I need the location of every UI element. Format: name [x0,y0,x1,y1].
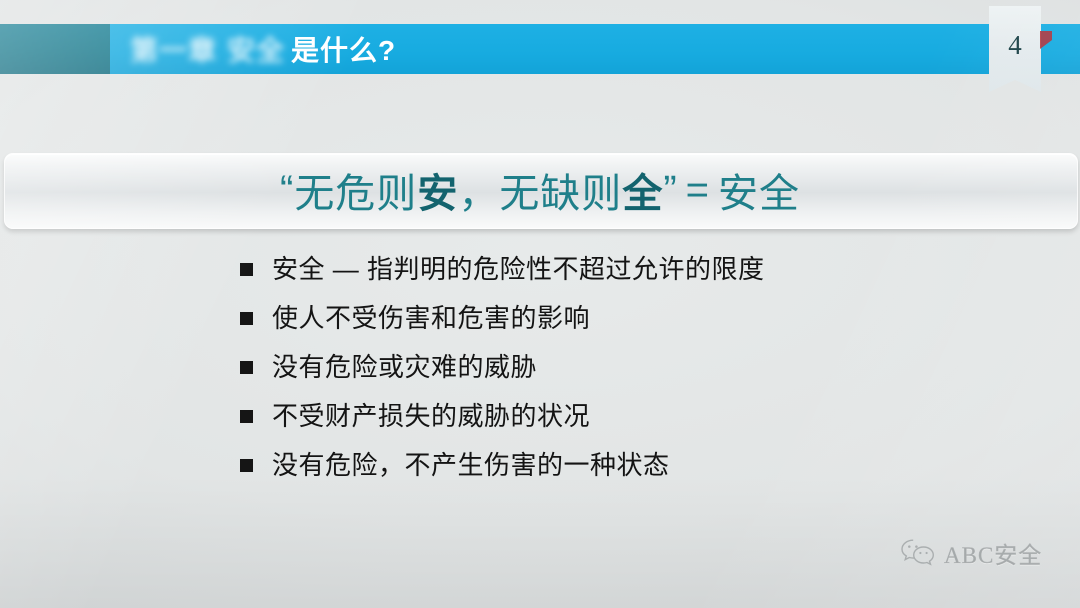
quote-comma: ， [458,161,499,219]
quote-part-2: 无缺则 [499,161,622,219]
quote-result: 安全 [718,161,800,219]
list-item: 不受财产损失的威胁的状况 [240,399,960,448]
square-bullet-icon [240,361,253,374]
list-item: 没有危险或灾难的威胁 [240,350,960,399]
list-item: 没有危险，不产生伤害的一种状态 [240,448,960,497]
wechat-icon [900,538,936,568]
quote-open-mark: “ [280,168,294,213]
list-item: 安全 — 指判明的危险性不超过允许的限度 [240,252,960,301]
quote-close-mark: ” [663,168,677,213]
quote-emphasis-an: 安 [417,161,458,219]
square-bullet-icon [240,410,253,423]
page-number-label: 4 [989,6,1041,84]
quote-part-1: 无危则 [294,161,417,219]
quote-emphasis-quan: 全 [622,161,663,219]
quote-equals-sign: = [686,168,710,213]
ribbon-flag-icon [1040,31,1052,49]
page-title: 第一章 安全 是什么? [130,24,396,74]
list-item: 使人不受伤害和危害的影响 [240,301,960,350]
page-title-obscured-chapter: 第一章 [130,29,217,69]
header-accent-block [0,24,110,74]
slide-canvas: 第一章 安全 是什么? 4 “无危则安，无缺则全”=安全 安全 — 指判明的危险… [0,0,1080,608]
watermark: ABC安全 [900,536,1042,570]
square-bullet-icon [240,459,253,472]
list-item-label: 安全 — 指判明的危险性不超过允许的限度 [272,252,764,286]
definition-bullet-list: 安全 — 指判明的危险性不超过允许的限度 使人不受伤害和危害的影响 没有危险或灾… [240,252,960,497]
watermark-label: ABC安全 [944,536,1042,570]
square-bullet-icon [240,263,253,276]
page-title-obscured-subject: 安全 [227,29,285,69]
square-bullet-icon [240,312,253,325]
list-item-label: 使人不受伤害和危害的影响 [272,301,590,335]
list-item-label: 没有危险或灾难的威胁 [272,350,537,384]
quote-banner-text: “无危则安，无缺则全”=安全 [4,153,1076,227]
page-title-visible: 是什么? [291,29,396,69]
list-item-label: 没有危险，不产生伤害的一种状态 [272,448,670,482]
list-item-label: 不受财产损失的威胁的状况 [272,399,590,433]
